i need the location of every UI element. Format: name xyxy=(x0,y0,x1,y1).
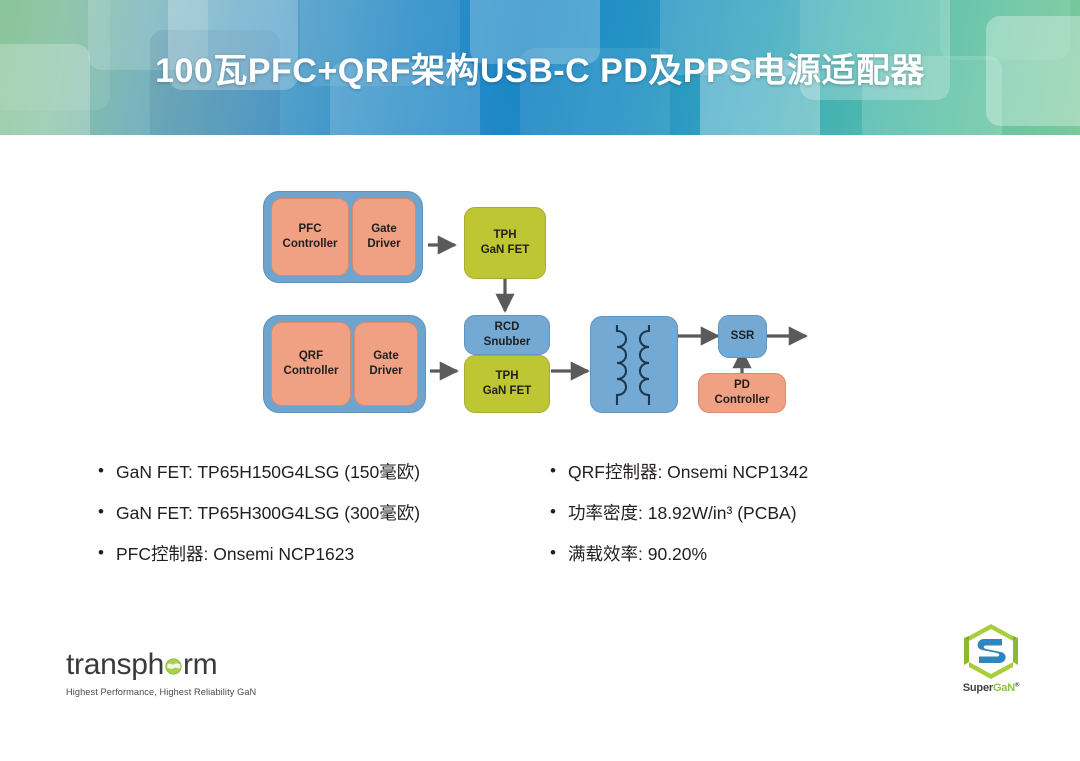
spec-item: GaN FET: TP65H300G4LSG (300毫欧) xyxy=(96,503,556,524)
transformer-coil-icon xyxy=(591,317,677,412)
rcd-snubber-block: RCD Snubber xyxy=(464,315,550,355)
transformer-block xyxy=(590,316,678,413)
transphorm-wordmark-part1: transph xyxy=(66,650,164,680)
gate-driver-bottom-line1: Gate xyxy=(373,349,399,364)
diagram-arrows xyxy=(0,135,1080,465)
transphorm-tagline: Highest Performance, Highest Reliability… xyxy=(66,687,266,697)
tph-gan-fet-bottom-block: TPH GaN FET xyxy=(464,355,550,413)
pfc-controller-block: PFC Controller xyxy=(271,198,349,276)
gate-driver-top-line2: Driver xyxy=(367,237,400,252)
transphorm-wordmark: transph rm xyxy=(66,650,266,680)
tph-bottom-line1: TPH xyxy=(496,369,519,384)
spec-item: PFC控制器: Onsemi NCP1623 xyxy=(96,544,556,565)
qrf-controller-line2: Controller xyxy=(284,364,339,379)
globe-icon xyxy=(165,650,182,680)
pfc-controller-line2: Controller xyxy=(283,237,338,252)
supergan-caption-gan: GaN xyxy=(993,682,1015,694)
supergan-hexagon-icon xyxy=(960,622,1022,680)
tph-top-line2: GaN FET xyxy=(481,243,530,258)
header-banner: 100瓦PFC+QRF架构USB-C PD及PPS电源适配器 xyxy=(0,0,1080,135)
block-diagram: PFC Controller Gate Driver TPH GaN FET Q… xyxy=(0,135,1080,465)
transphorm-logo: transph rm Highest Performance, Highest … xyxy=(66,650,266,697)
tph-gan-fet-top-block: TPH GaN FET xyxy=(464,207,546,279)
pfc-controller-line1: PFC xyxy=(299,222,322,237)
gate-driver-top-line1: Gate xyxy=(371,222,397,237)
tph-bottom-line2: GaN FET xyxy=(483,384,532,399)
pd-controller-block: PD Controller xyxy=(698,373,786,413)
specs-section: GaN FET: TP65H150G4LSG (150毫欧) GaN FET: … xyxy=(0,462,1080,602)
qrf-controller-block: QRF Controller xyxy=(271,322,351,406)
gate-driver-top-block: Gate Driver xyxy=(352,198,416,276)
spec-item: 满载效率: 90.20% xyxy=(548,544,988,565)
transphorm-wordmark-part2: rm xyxy=(183,650,217,680)
gate-driver-bottom-block: Gate Driver xyxy=(354,322,418,406)
rcd-snubber-line2: Snubber xyxy=(484,335,531,350)
supergan-caption: SuperGaN® xyxy=(948,682,1034,694)
supergan-caption-super: Super xyxy=(963,682,993,694)
spec-item: 功率密度: 18.92W/in³ (PCBA) xyxy=(548,503,988,524)
supergan-logo: SuperGaN® xyxy=(948,622,1034,694)
tph-top-line1: TPH xyxy=(494,228,517,243)
qrf-controller-line1: QRF xyxy=(299,349,323,364)
supergan-trademark: ® xyxy=(1015,682,1019,688)
page-title: 100瓦PFC+QRF架构USB-C PD及PPS电源适配器 xyxy=(0,0,1080,135)
pd-controller-line2: Controller xyxy=(715,393,770,408)
spec-item: GaN FET: TP65H150G4LSG (150毫欧) xyxy=(96,462,556,483)
specs-column-left: GaN FET: TP65H150G4LSG (150毫欧) GaN FET: … xyxy=(96,462,556,585)
spec-item: QRF控制器: Onsemi NCP1342 xyxy=(548,462,988,483)
ssr-label: SSR xyxy=(731,329,755,344)
specs-column-right: QRF控制器: Onsemi NCP1342 功率密度: 18.92W/in³ … xyxy=(548,462,988,585)
ssr-block: SSR xyxy=(718,315,767,358)
pd-controller-line1: PD xyxy=(734,378,750,393)
rcd-snubber-line1: RCD xyxy=(495,320,520,335)
gate-driver-bottom-line2: Driver xyxy=(369,364,402,379)
